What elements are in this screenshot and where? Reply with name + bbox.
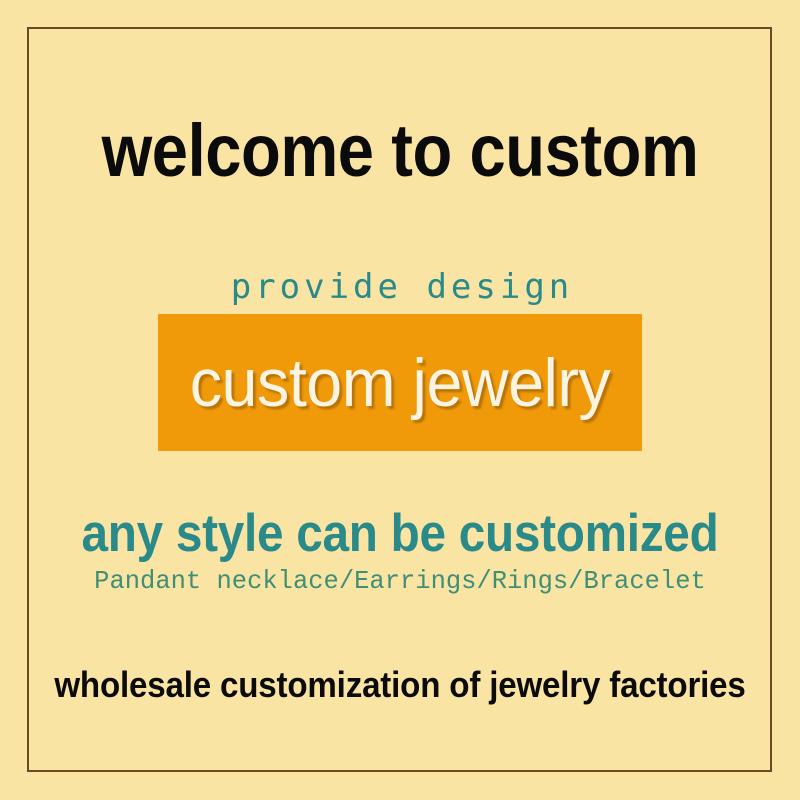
banner-headline: welcome to custom	[48, 108, 752, 194]
promo-banner: welcome to custom provide design custom …	[0, 0, 800, 800]
product-category-list: Pandant necklace/Earrings/Rings/Bracelet	[8, 565, 792, 597]
banner-footer-text: wholesale customization of jewelry facto…	[32, 663, 768, 707]
banner-tagline: any style can be customized	[40, 503, 760, 565]
custom-jewelry-label: custom jewelry	[170, 314, 630, 451]
custom-jewelry-highlight-block: custom jewelry	[158, 314, 642, 451]
banner-subheadline: provide design	[0, 267, 800, 307]
